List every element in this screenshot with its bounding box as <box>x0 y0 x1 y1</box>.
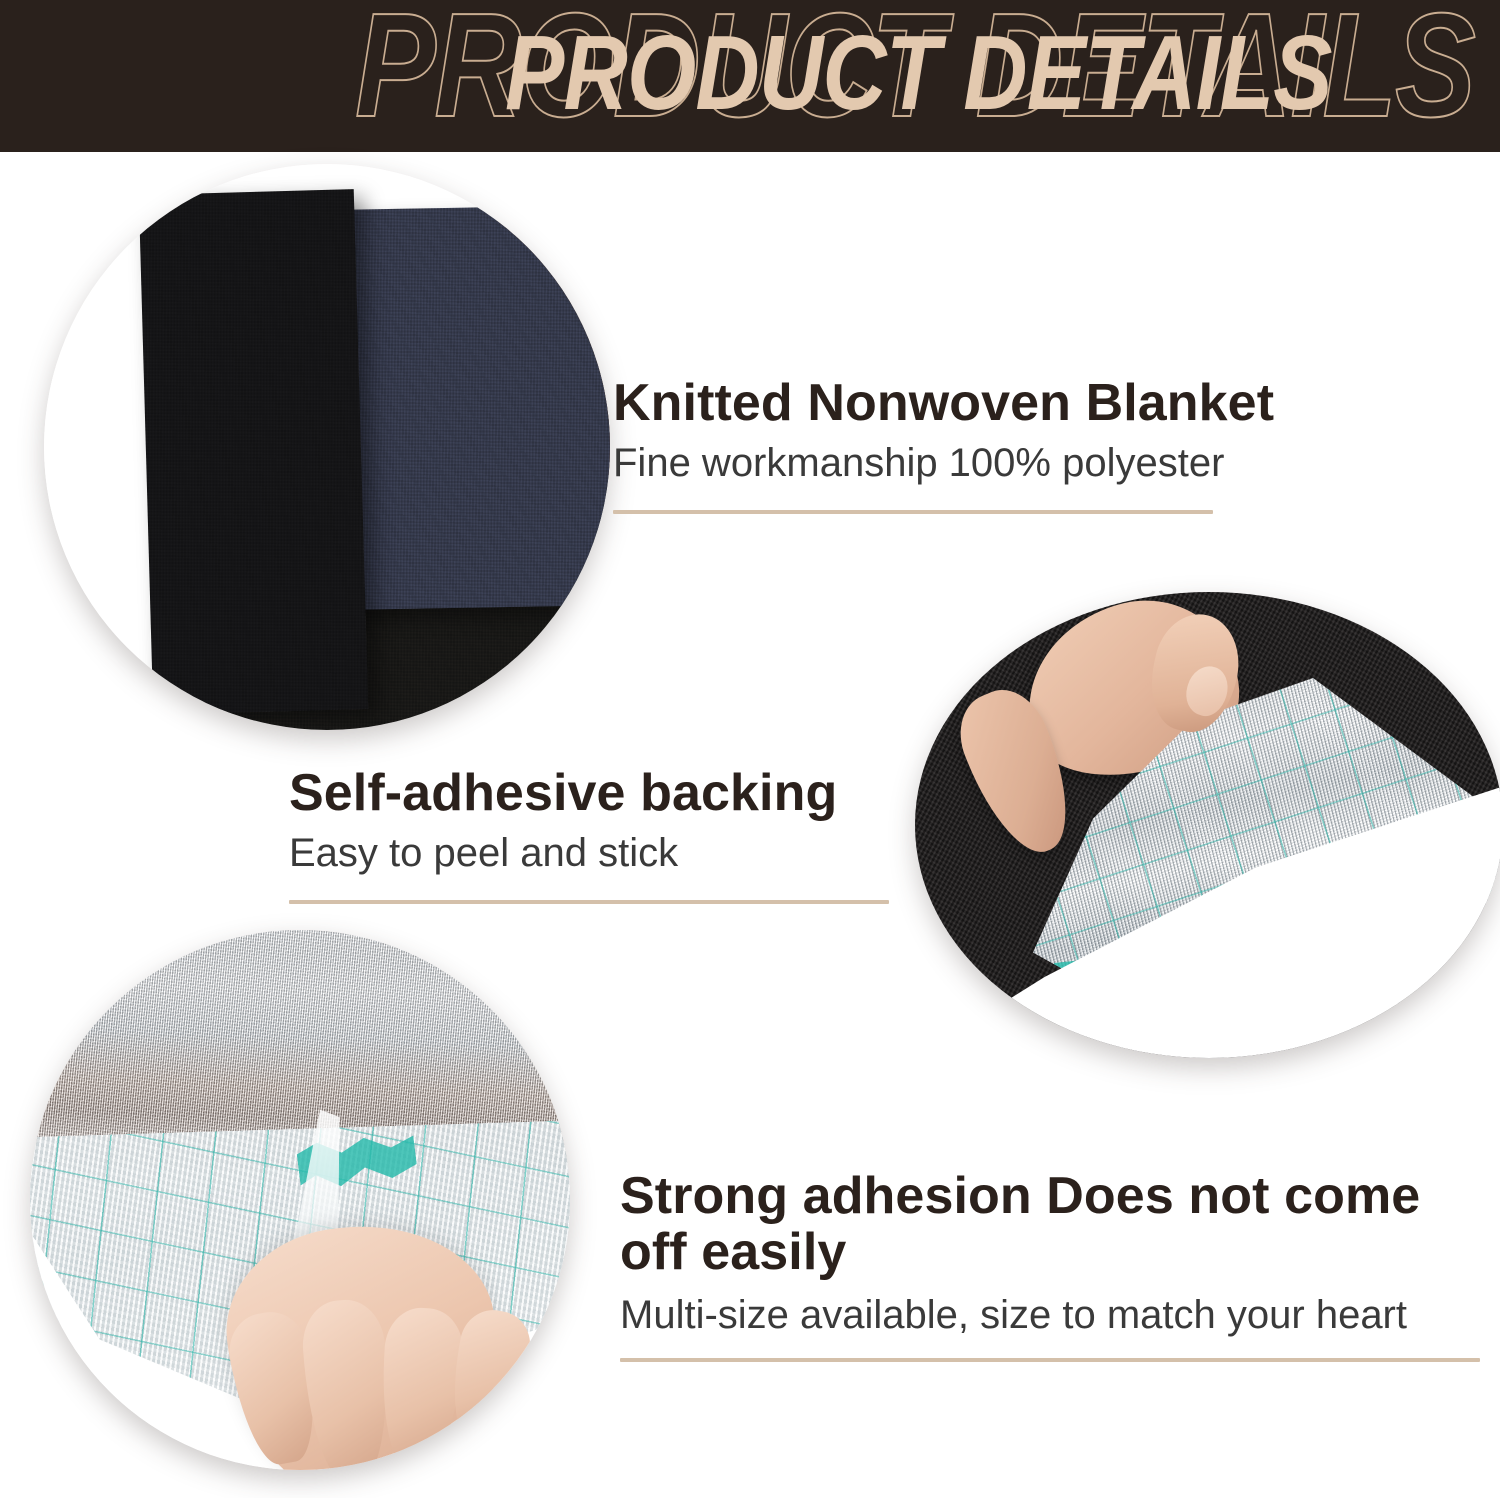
feature-title: Knitted Nonwoven Blanket <box>613 374 1358 432</box>
fabric-swatches-image <box>44 164 610 730</box>
header-band: PRODUCT DETAILS PRODUCT DETAILS <box>0 0 1500 152</box>
feature-divider-rule <box>289 900 889 904</box>
hand-pulling-liner-image <box>30 930 570 1470</box>
feature-divider-rule <box>620 1358 1480 1362</box>
product-details-page: PRODUCT DETAILS PRODUCT DETAILS <box>0 0 1500 1498</box>
page-title: PRODUCT DETAILS <box>505 20 1332 126</box>
swatch-black-upper <box>139 189 368 715</box>
hand-peeling-foil-photo <box>915 592 1500 1058</box>
feature-title: Strong adhesion Does not come off easily <box>620 1168 1485 1280</box>
feature-strong-adhesion: Strong adhesion Does not come off easily… <box>620 1168 1485 1362</box>
feature-subtitle: Easy to peel and stick <box>289 828 969 878</box>
hand-peeling-foil-image <box>915 592 1500 1058</box>
feature-self-adhesive-backing: Self-adhesive backing Easy to peel and s… <box>289 764 969 904</box>
feature-title: Self-adhesive backing <box>289 764 969 822</box>
feature-subtitle: Fine workmanship 100% polyester <box>613 438 1358 488</box>
feature-divider-rule <box>613 510 1213 514</box>
feature-subtitle: Multi-size available, size to match your… <box>620 1290 1485 1340</box>
hand-pulling-liner-photo <box>30 930 570 1470</box>
fabric-swatches-photo <box>44 164 610 730</box>
feature-knitted-nonwoven-blanket: Knitted Nonwoven Blanket Fine workmanshi… <box>613 374 1358 514</box>
